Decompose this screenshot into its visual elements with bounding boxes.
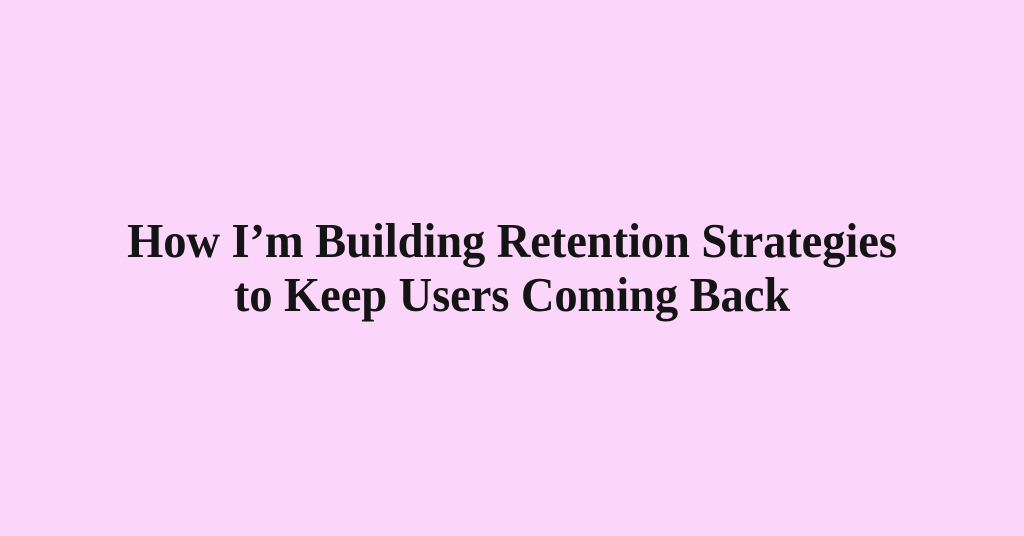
title-block: How I’m Building Retention Strategies to…: [82, 214, 942, 322]
page-title: How I’m Building Retention Strategies to…: [123, 214, 902, 322]
banner-card: How I’m Building Retention Strategies to…: [0, 0, 1024, 536]
